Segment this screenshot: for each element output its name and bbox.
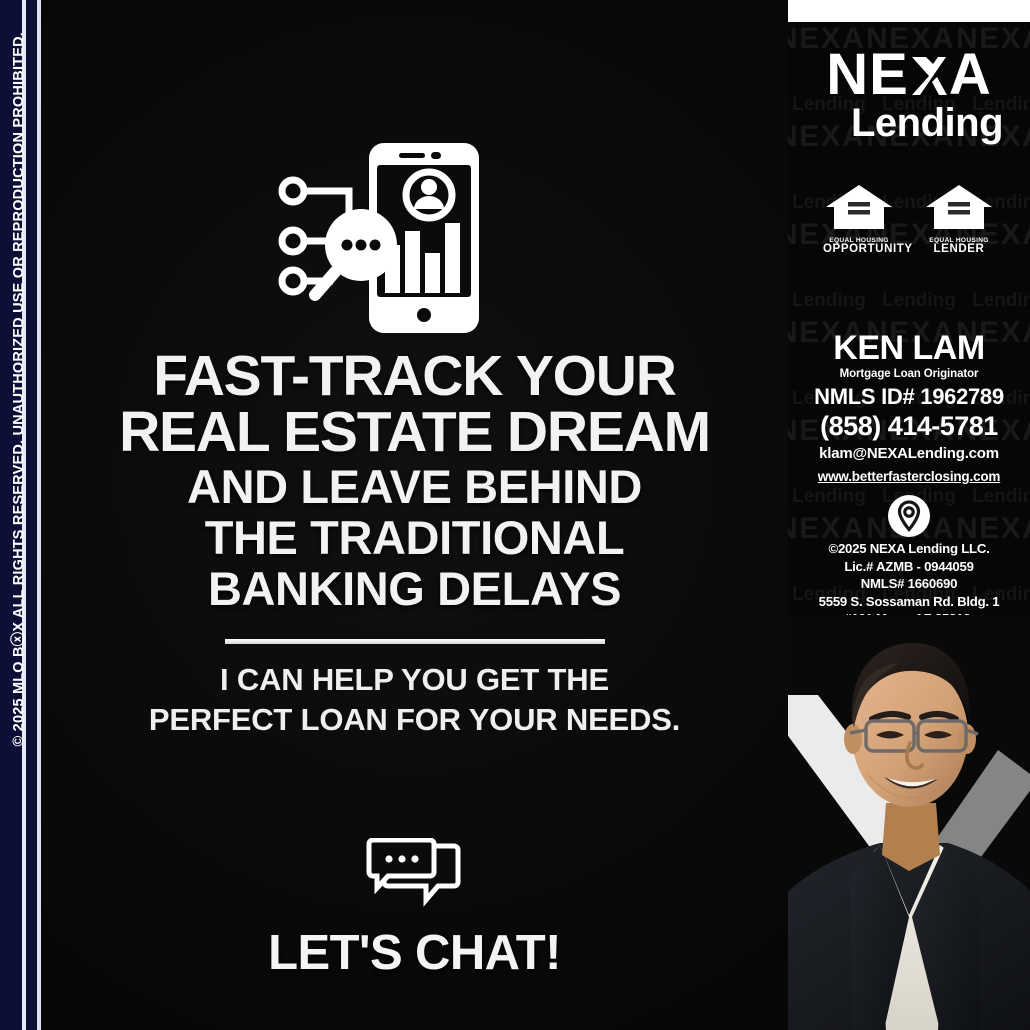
equal-housing-lender-badge: EQUAL HOUSING LENDER <box>923 183 995 253</box>
map-pin-icon <box>788 494 1030 538</box>
divider <box>225 639 605 644</box>
legal-line-3: NMLS# 1660690 <box>788 575 1030 593</box>
headline-line-5: BANKING DELAYS <box>41 563 788 614</box>
headline-line-1: FAST-TRACK YOUR <box>41 348 788 404</box>
agent-website-link[interactable]: www.betterfasterclosing.com <box>788 467 1030 486</box>
left-copyright-strip: © 2025 MLO BⓧX ALL RIGHTS RESERVED. UNAU… <box>0 0 37 1030</box>
legal-line-1: ©2025 NEXA Lending LLC. <box>788 540 1030 558</box>
badge-label: EQUAL HOUSING OPPORTUNITY <box>823 237 895 253</box>
agent-role: Mortgage Loan Originator <box>788 366 1030 382</box>
badge-line-2: OPPORTUNITY <box>823 245 895 253</box>
logo-text-right: A <box>949 42 992 107</box>
marketing-flyer: © 2025 MLO BⓧX ALL RIGHTS RESERVED. UNAU… <box>0 0 1030 1030</box>
headline-line-4: THE TRADITIONAL <box>41 512 788 563</box>
main-content-panel: FAST-TRACK YOUR REAL ESTATE DREAM AND LE… <box>41 0 788 1030</box>
agent-info-sidebar: NEXANEXANEXALendingLendingLendingNEXANEX… <box>788 0 1030 1030</box>
logo-text-left: NE <box>826 42 909 107</box>
agent-name: KEN LAM <box>788 330 1030 366</box>
badge-line-2: LENDER <box>923 245 995 253</box>
subheading-line-1: I CAN HELP YOU GET THE <box>41 660 788 700</box>
badge-label: EQUAL HOUSING LENDER <box>923 237 995 253</box>
subheading: I CAN HELP YOU GET THE PERFECT LOAN FOR … <box>41 660 788 739</box>
copyright-notice: © 2025 MLO BⓧX ALL RIGHTS RESERVED. UNAU… <box>8 10 30 1020</box>
nexa-x-mark-icon <box>909 50 949 94</box>
agent-nmls-id: NMLS ID# 1962789 <box>788 384 1030 410</box>
headline-line-3: AND LEAVE BEHIND <box>41 461 788 512</box>
equal-housing-opportunity-badge: EQUAL HOUSING OPPORTUNITY <box>823 183 895 253</box>
contact-block: KEN LAM Mortgage Loan Originator NMLS ID… <box>788 330 1030 486</box>
equal-housing-icon <box>824 218 894 235</box>
legal-line-2: Lic.# AZMB - 0944059 <box>788 558 1030 576</box>
cta-label[interactable]: LET'S CHAT! <box>41 925 788 981</box>
agent-phone[interactable]: (858) 414-5781 <box>788 410 1030 442</box>
chat-bubbles-icon <box>366 838 461 910</box>
smartphone-analytics-search-icon <box>271 135 501 340</box>
headshot-photo <box>788 615 1030 1030</box>
equal-housing-icon <box>924 218 994 235</box>
page-title: FAST-TRACK YOUR REAL ESTATE DREAM AND LE… <box>41 348 788 615</box>
agent-email[interactable]: klam@NEXALending.com <box>788 444 1030 464</box>
logo-subtext: Lending <box>788 102 1030 144</box>
subheading-line-2: PERFECT LOAN FOR YOUR NEEDS. <box>41 700 788 740</box>
headline-line-2: REAL ESTATE DREAM <box>41 404 788 460</box>
nexa-lending-logo: NEA Lending <box>788 46 1030 144</box>
equal-housing-badges: EQUAL HOUSING OPPORTUNITY EQ <box>788 183 1030 253</box>
logo-wordmark: NEA <box>788 46 1030 104</box>
legal-line-4: 5559 S. Sossaman Rd. Bldg. 1 <box>788 593 1030 611</box>
